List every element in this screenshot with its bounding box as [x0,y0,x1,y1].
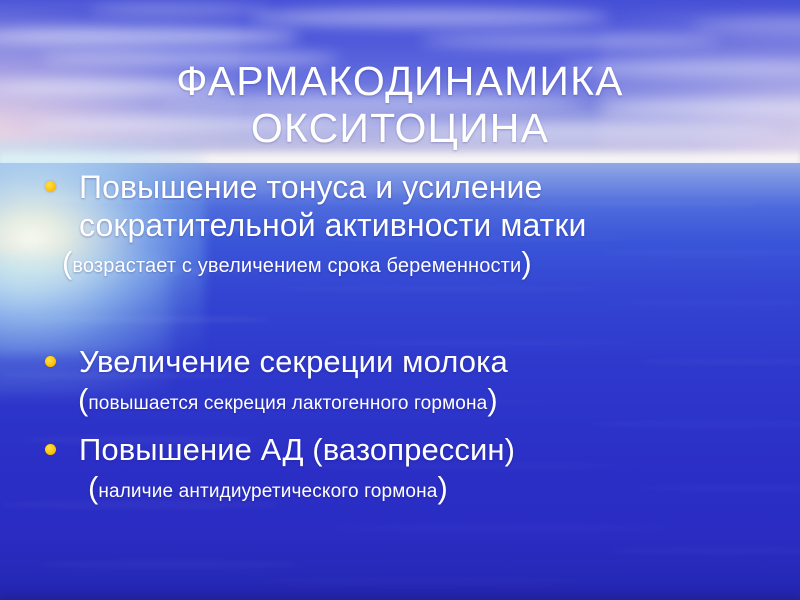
bullet-dot-icon [45,444,56,455]
bullet-main-text: Увеличение секреции молока [0,343,800,381]
bullet-main-text: Повышение тонуса и усиление сократительн… [0,168,800,244]
list-item: Увеличение секреции молока (повышается с… [0,343,800,422]
paren-open: ( [88,470,98,505]
list-item: Повышение тонуса и усиление сократительн… [0,168,800,284]
bullet-list: Повышение тонуса и усиление сократительн… [0,168,800,510]
paren-open: ( [78,382,88,417]
bullet-sub-text: (наличие антидиуретического гормона) [0,469,800,510]
presentation-slide: ФАРМАКОДИНАМИКА ОКСИТОЦИНА Повышение тон… [0,0,800,600]
paren-close: ) [521,245,531,280]
bullet-sub-text: (возрастает с увеличением срока беременн… [0,244,800,284]
bullet-sub-text: (повышается секреция лактогенного гормон… [0,381,800,422]
paren-close: ) [437,470,447,505]
paren-close: ) [487,382,497,417]
list-item: Повышение АД (вазопрессин) (наличие анти… [0,431,800,510]
paren-open: ( [62,245,72,280]
bullet-dot-icon [45,356,56,367]
bullet-sub-inner: возрастает с увеличением срока беременно… [72,255,521,277]
slide-content: ФАРМАКОДИНАМИКА ОКСИТОЦИНА Повышение тон… [0,0,800,600]
bullet-dot-icon [45,181,56,192]
bullet-sub-inner: наличие антидиуретического гормона [98,481,437,502]
slide-title: ФАРМАКОДИНАМИКА ОКСИТОЦИНА [40,58,760,152]
bullet-sub-inner: повышается секреция лактогенного гормона [88,393,487,414]
bullet-main-text: Повышение АД (вазопрессин) [0,431,800,469]
